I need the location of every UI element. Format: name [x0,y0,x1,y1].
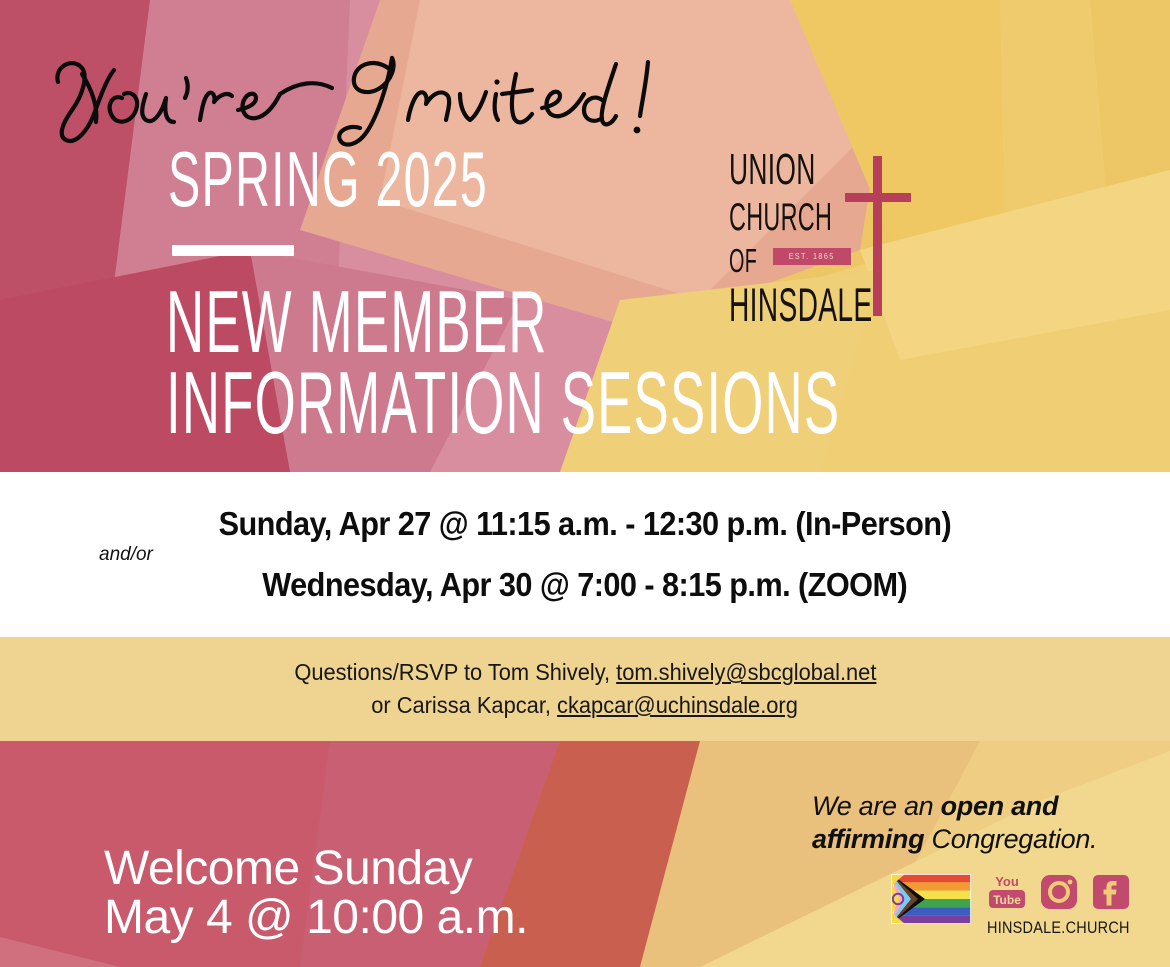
email-link-carissa-kapcar[interactable]: ckapcar@uchinsdale.org [557,692,798,718]
website-label: HINSDALE.CHURCH [987,918,1130,938]
logo-line-hinsdale: HINSDALE [729,281,872,328]
headline-line-2: INFORMATION SESSIONS [166,363,840,444]
bottom-background-art: Welcome Sunday May 4 @ 10:00 a.m. We are… [0,741,1170,967]
email-link-tom-shively[interactable]: tom.shively@sbcglobal.net [616,659,876,685]
social-row: You Tube HINSDALE.CHURCH [891,874,1131,946]
affirming-part-2: Congregation. [924,824,1097,854]
season-title: SPRING 2025 [168,140,488,218]
church-logo: UNION CHURCH OF HINSDALE EST. 1865 [727,148,907,320]
progress-pride-flag-icon [891,874,971,924]
top-background-art: SPRING 2025 NEW MEMBER INFORMATION SESSI… [0,0,1170,472]
contact-1-prefix: Questions/RSVP to Tom Shively, [294,659,616,685]
welcome-datetime: May 4 @ 10:00 a.m. [104,894,528,943]
affirming-bold-2: affirming [812,824,924,854]
save-the-date-details: Welcome Sunday May 4 @ 10:00 a.m. [104,845,528,943]
cross-icon-crossbar [845,193,911,202]
title-divider-rule [172,245,294,256]
welcome-event-name: Welcome Sunday [104,845,528,894]
contact-band: Questions/RSVP to Tom Shively, tom.shive… [0,637,1170,741]
contact-line-1: Questions/RSVP to Tom Shively, tom.shive… [294,656,876,689]
logo-established-badge: EST. 1865 [773,248,851,265]
poster-canvas: SPRING 2025 NEW MEMBER INFORMATION SESSI… [0,0,1170,967]
svg-text:You: You [995,874,1019,889]
social-icons: You Tube [987,872,1131,916]
facebook-icon[interactable] [1091,872,1131,912]
logo-established-text: EST. 1865 [789,252,835,261]
instagram-icon[interactable] [1039,872,1079,912]
contact-line-2: or Carissa Kapcar, ckapcar@uchinsdale.or… [372,689,799,722]
contact-2-prefix: or Carissa Kapcar, [372,692,558,718]
session-2-datetime: Wednesday, Apr 30 @ 7:00 - 8:15 p.m. (ZO… [263,567,908,603]
session-1-datetime: Sunday, Apr 27 @ 11:15 a.m. - 12:30 p.m.… [219,506,952,542]
affirming-part-1: We are an [812,791,941,821]
svg-text:Tube: Tube [993,893,1021,907]
session-dates-band: Sunday, Apr 27 @ 11:15 a.m. - 12:30 p.m.… [0,472,1170,637]
affirming-bold-1: open and [941,791,1059,821]
session-connector: and/or [99,543,153,567]
cross-icon [873,156,882,316]
logo-line-union: UNION [729,148,816,192]
logo-line-of: OF [729,244,757,277]
logo-line-church: CHURCH [729,198,832,237]
session-dates-wrap: Sunday, Apr 27 @ 11:15 a.m. - 12:30 p.m.… [0,472,1170,637]
youtube-icon[interactable]: You Tube [987,872,1027,912]
affirming-statement: We are an open andaffirming Congregation… [812,790,1152,856]
